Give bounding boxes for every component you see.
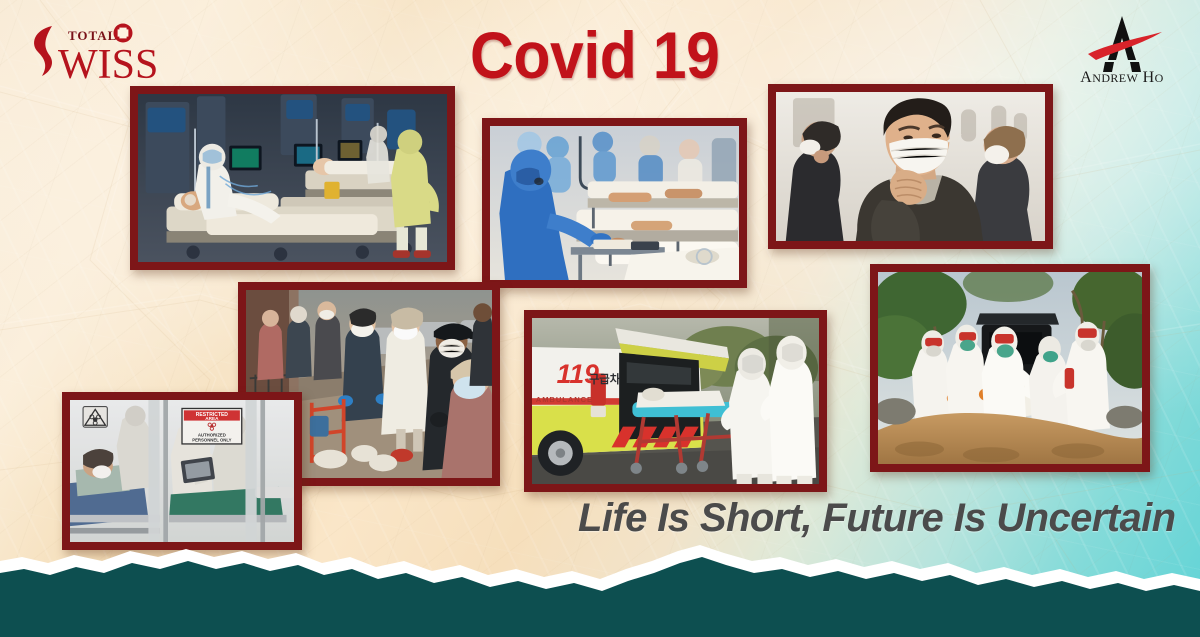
coughing-man-photo xyxy=(776,92,1045,241)
poster-canvas: TOTAL WISS ANDREW HO Covid 19 Life Is Sh… xyxy=(0,0,1200,637)
svg-text:TOTAL: TOTAL xyxy=(68,28,117,43)
photo-frame-icu[interactable] xyxy=(130,86,455,270)
svg-text:ANDREW HO: ANDREW HO xyxy=(1080,69,1163,84)
svg-text:구급차: 구급차 xyxy=(589,372,621,386)
burial-photo xyxy=(878,272,1142,464)
total-swiss-logo-mark: TOTAL WISS xyxy=(22,18,162,84)
page-title: Covid 19 xyxy=(470,22,719,88)
svg-text:WISS: WISS xyxy=(58,42,158,84)
andrew-ho-logo[interactable]: ANDREW HO xyxy=(1062,10,1182,84)
icu-ward-photo xyxy=(138,94,447,262)
photo-frame-cough[interactable] xyxy=(768,84,1053,249)
andrew-ho-logo-mark: ANDREW HO xyxy=(1062,10,1182,84)
ambulance-word: AMBULANCE xyxy=(536,395,593,404)
isolation-room-photo: RESTRICTED AREA AUTHORIZED PERSONNEL ONL… xyxy=(70,400,294,542)
photo-frame-burial[interactable] xyxy=(870,264,1150,472)
ambulance-transfer-photo: 119 구급차 AMBULANCE xyxy=(532,318,819,484)
tagline: Life Is Short, Future Is Uncertain xyxy=(578,498,1175,538)
photo-frame-isolation[interactable]: RESTRICTED AREA AUTHORIZED PERSONNEL ONL… xyxy=(62,392,302,550)
photo-frame-ambulance[interactable]: 119 구급차 AMBULANCE xyxy=(524,310,827,492)
total-swiss-logo[interactable]: TOTAL WISS xyxy=(22,18,162,84)
torn-band-dark xyxy=(0,557,1200,637)
torn-edge-white xyxy=(0,545,1200,637)
blue-ppe-ward-photo xyxy=(490,126,739,280)
photo-frame-ward[interactable] xyxy=(482,118,747,288)
